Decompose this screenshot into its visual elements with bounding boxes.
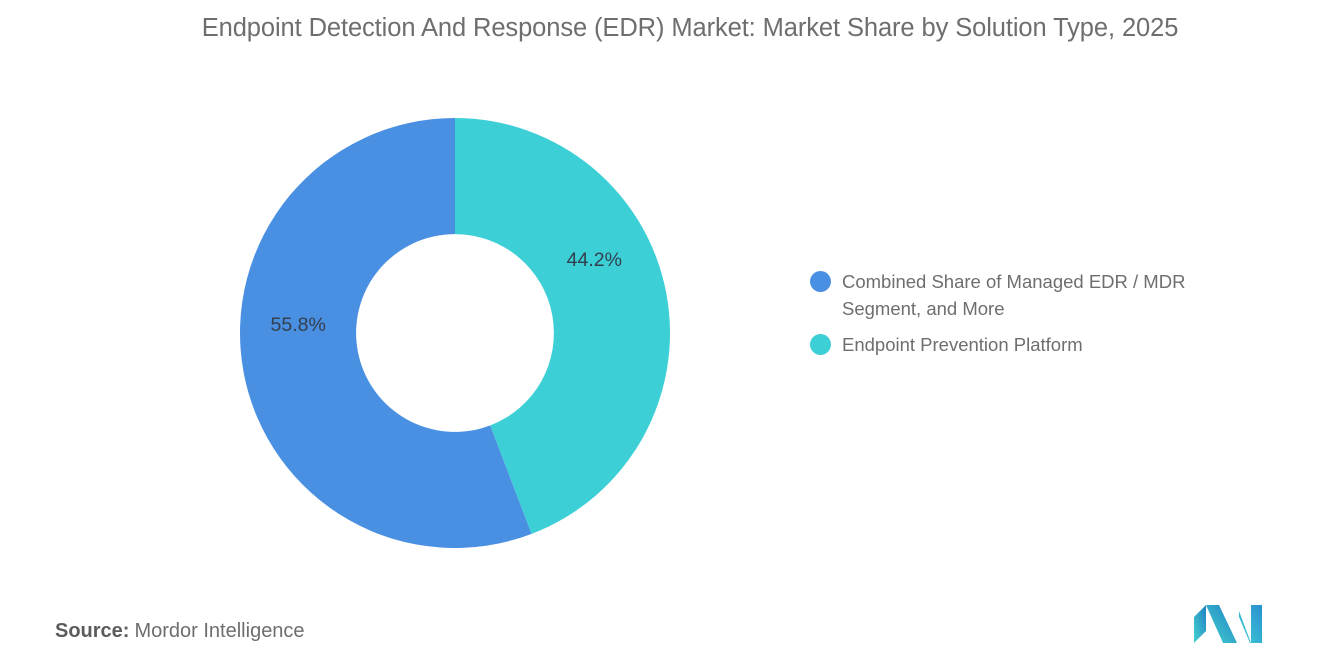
legend-swatch-circle-icon <box>810 334 831 355</box>
legend-label-endpoint-prevention: Endpoint Prevention Platform <box>842 331 1083 358</box>
chart-legend: Combined Share of Managed EDR / MDR Segm… <box>810 268 1290 367</box>
chart-title: Endpoint Detection And Response (EDR) Ma… <box>95 10 1285 47</box>
source-value: Mordor Intelligence <box>134 620 304 642</box>
legend-swatch-circle-icon <box>810 271 831 292</box>
source-label: Source: <box>55 620 129 642</box>
source-line: Source:Mordor Intelligence <box>55 620 305 643</box>
legend-label-combined-share: Combined Share of Managed EDR / MDR Segm… <box>842 268 1262 322</box>
donut-value-label-endpoint-prevention: 44.2% <box>567 249 622 271</box>
legend-item-combined-share[interactable]: Combined Share of Managed EDR / MDR Segm… <box>810 268 1290 322</box>
mordor-intelligence-logo-icon <box>1192 603 1264 645</box>
legend-item-endpoint-prevention[interactable]: Endpoint Prevention Platform <box>810 331 1290 358</box>
donut-chart-svg: 55.8% 44.2% <box>232 110 678 556</box>
chart-figure: Endpoint Detection And Response (EDR) Ma… <box>0 0 1320 665</box>
donut-chart-plot-area: 55.8% 44.2% <box>232 110 678 556</box>
logo-svg <box>1192 603 1264 645</box>
donut-value-label-combined-share: 55.8% <box>271 314 326 336</box>
